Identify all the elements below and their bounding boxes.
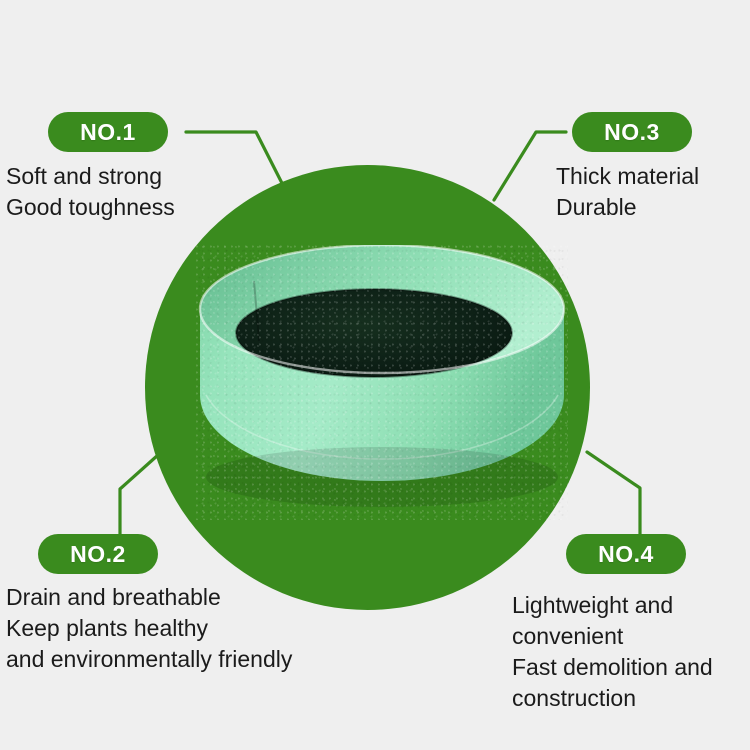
grow-bag-illustration xyxy=(196,245,568,520)
feature-badge-2[interactable]: NO.2 xyxy=(38,534,158,574)
feature-text-3: Thick material Durable xyxy=(556,161,699,223)
connector-line-4 xyxy=(587,452,640,536)
feature-badge-3[interactable]: NO.3 xyxy=(572,112,692,152)
feature-text-1: Soft and strong Good toughness xyxy=(6,161,175,223)
feature-badge-4[interactable]: NO.4 xyxy=(566,534,686,574)
infographic-canvas: NO.1 NO.2 NO.3 NO.4 Soft and strong Good… xyxy=(0,0,750,750)
feature-text-2: Drain and breathable Keep plants healthy… xyxy=(6,582,292,675)
product-image xyxy=(196,245,568,520)
connector-line-2 xyxy=(120,455,158,536)
feature-text-4: Lightweight and convenient Fast demoliti… xyxy=(512,590,713,714)
feature-badge-1[interactable]: NO.1 xyxy=(48,112,168,152)
